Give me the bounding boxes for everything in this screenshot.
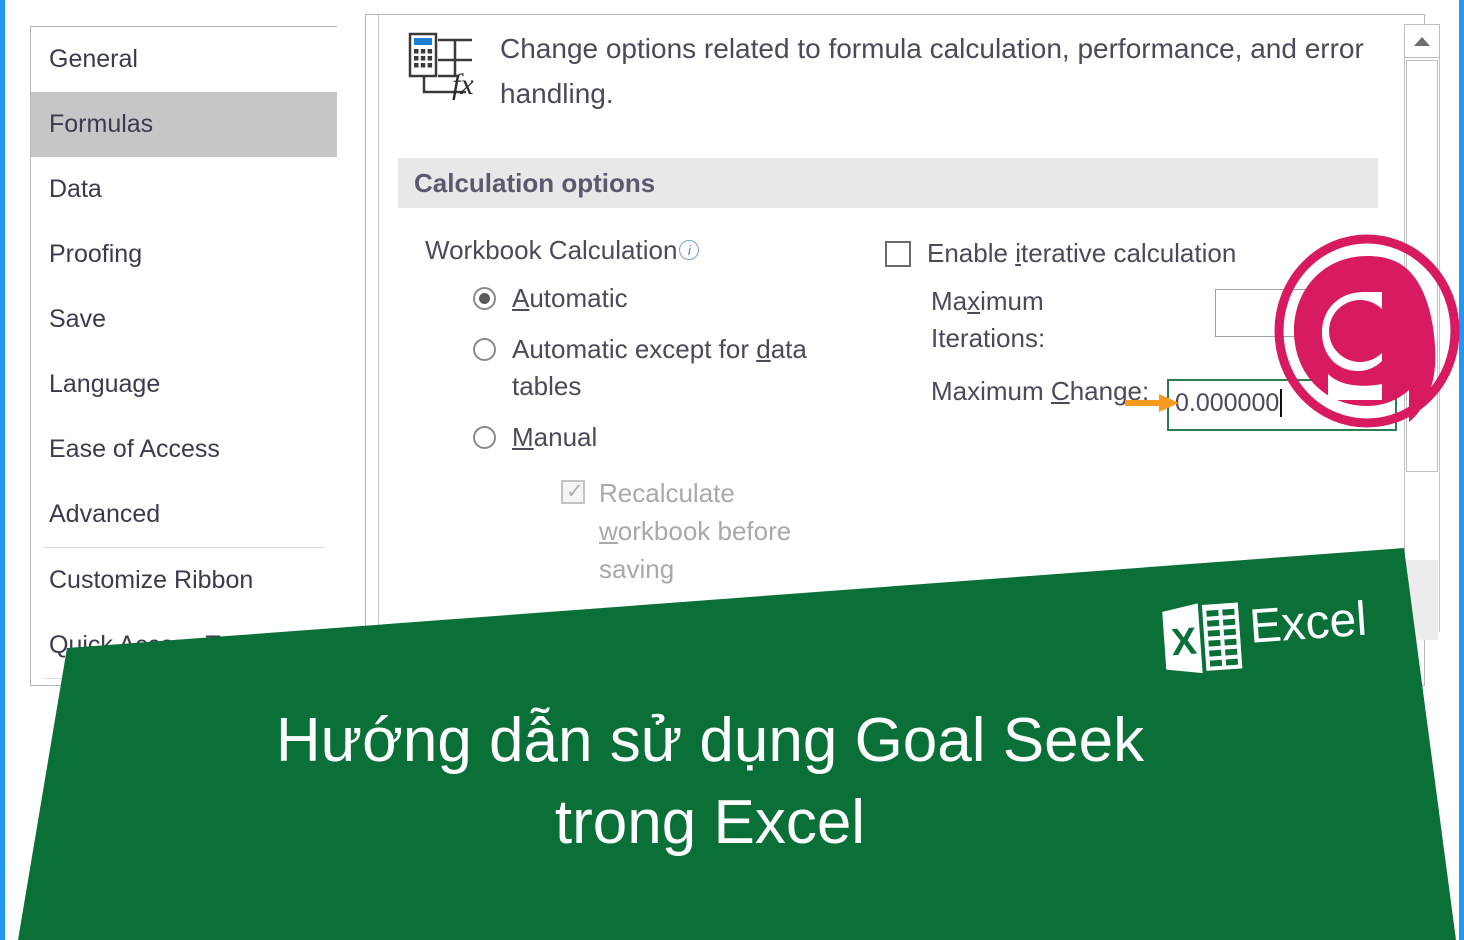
sidebar-item-label: Data	[49, 175, 102, 203]
radio-icon-automatic[interactable]	[473, 287, 496, 310]
window-border-right	[1459, 0, 1464, 940]
checkmark-icon: ✓	[561, 480, 585, 504]
scrollbar-track[interactable]	[1406, 560, 1438, 640]
banner-title: Hướng dẫn sử dụng Goal Seek trong Excel	[120, 700, 1300, 864]
radio-option-automatic-except-data-tables[interactable]: Automatic except for data tables	[425, 331, 845, 405]
calculation-options-band: Calculation options	[398, 158, 1378, 208]
max-change-value: 0.000000	[1175, 389, 1279, 417]
sidebar-item-quick-access-toolbar[interactable]: Quick Access Toolbar	[31, 613, 337, 678]
checkbox-label-recalculate: Recalculate workbook before saving	[599, 474, 845, 588]
options-category-sidebar: General Formulas Data Proofing Save Lang…	[30, 26, 337, 686]
sidebar-item-label: Save	[49, 305, 106, 333]
sidebar-item-advanced[interactable]: Advanced	[31, 482, 337, 547]
sidebar-item-label: Customize Ribbon	[49, 566, 253, 594]
sidebar-item-label: Formulas	[49, 110, 153, 138]
workbook-calculation-group: Workbook Calculationi Automatic Automati…	[425, 235, 845, 588]
sidebar-item-customize-ribbon[interactable]: Customize Ribbon	[31, 548, 337, 613]
max-iterations-label: Maximum Iterations:	[931, 283, 1161, 357]
radio-icon-automatic-except[interactable]	[473, 338, 496, 361]
sidebar-item-save[interactable]: Save	[31, 287, 337, 352]
sidebar-item-data[interactable]: Data	[31, 157, 337, 222]
svg-text:fx: fx	[452, 68, 474, 100]
sidebar-item-label: Ease of Access	[49, 435, 220, 463]
radio-label-automatic: Automatic	[512, 280, 628, 317]
formula-calculator-icon: fx	[408, 32, 478, 100]
sidebar-item-label: Quick Access Toolbar	[49, 631, 288, 659]
annotation-arrow-icon	[1125, 392, 1181, 414]
sidebar-item-label: General	[49, 45, 138, 73]
radio-label-automatic-except: Automatic except for data tables	[512, 331, 812, 405]
section-title: Calculation options	[414, 168, 655, 199]
sidebar-item-proofing[interactable]: Proofing	[31, 222, 337, 287]
radio-option-manual[interactable]: Manual	[425, 419, 845, 456]
radio-option-automatic[interactable]: Automatic	[425, 280, 845, 317]
panel-description: Change options related to formula calcul…	[500, 26, 1390, 116]
window-border-left	[0, 0, 5, 940]
sidebar-separator-2	[43, 678, 325, 679]
info-icon[interactable]: i	[679, 240, 699, 260]
radio-icon-manual[interactable]	[473, 426, 496, 449]
banner-title-line-1: Hướng dẫn sử dụng Goal Seek	[120, 700, 1300, 782]
screenshot-root: General Formulas Data Proofing Save Lang…	[0, 0, 1464, 940]
sidebar-item-ease-of-access[interactable]: Ease of Access	[31, 417, 337, 482]
enable-iterative-label: Enable iterative calculation	[927, 238, 1236, 269]
sidebar-item-label: Language	[49, 370, 160, 398]
panel-inner-edge	[378, 14, 379, 686]
scroll-up-arrow-icon[interactable]	[1404, 24, 1440, 58]
sidebar-item-label: Proofing	[49, 240, 142, 268]
sidebar-item-formulas[interactable]: Formulas	[31, 92, 337, 157]
banner-title-line-2: trong Excel	[120, 782, 1300, 864]
group-label-text: Workbook Calculation	[425, 235, 677, 265]
workbook-calculation-label: Workbook Calculationi	[425, 235, 845, 266]
sidebar-item-general[interactable]: General	[31, 27, 337, 92]
sidebar-item-label: Advanced	[49, 500, 160, 528]
radio-label-manual: Manual	[512, 419, 597, 456]
g-logo	[1272, 234, 1462, 429]
checkbox-recalculate-before-saving: ✓ Recalculate workbook before saving	[561, 474, 845, 588]
checkbox-icon-enable-iterative[interactable]	[885, 241, 911, 267]
sidebar-item-language[interactable]: Language	[31, 352, 337, 417]
